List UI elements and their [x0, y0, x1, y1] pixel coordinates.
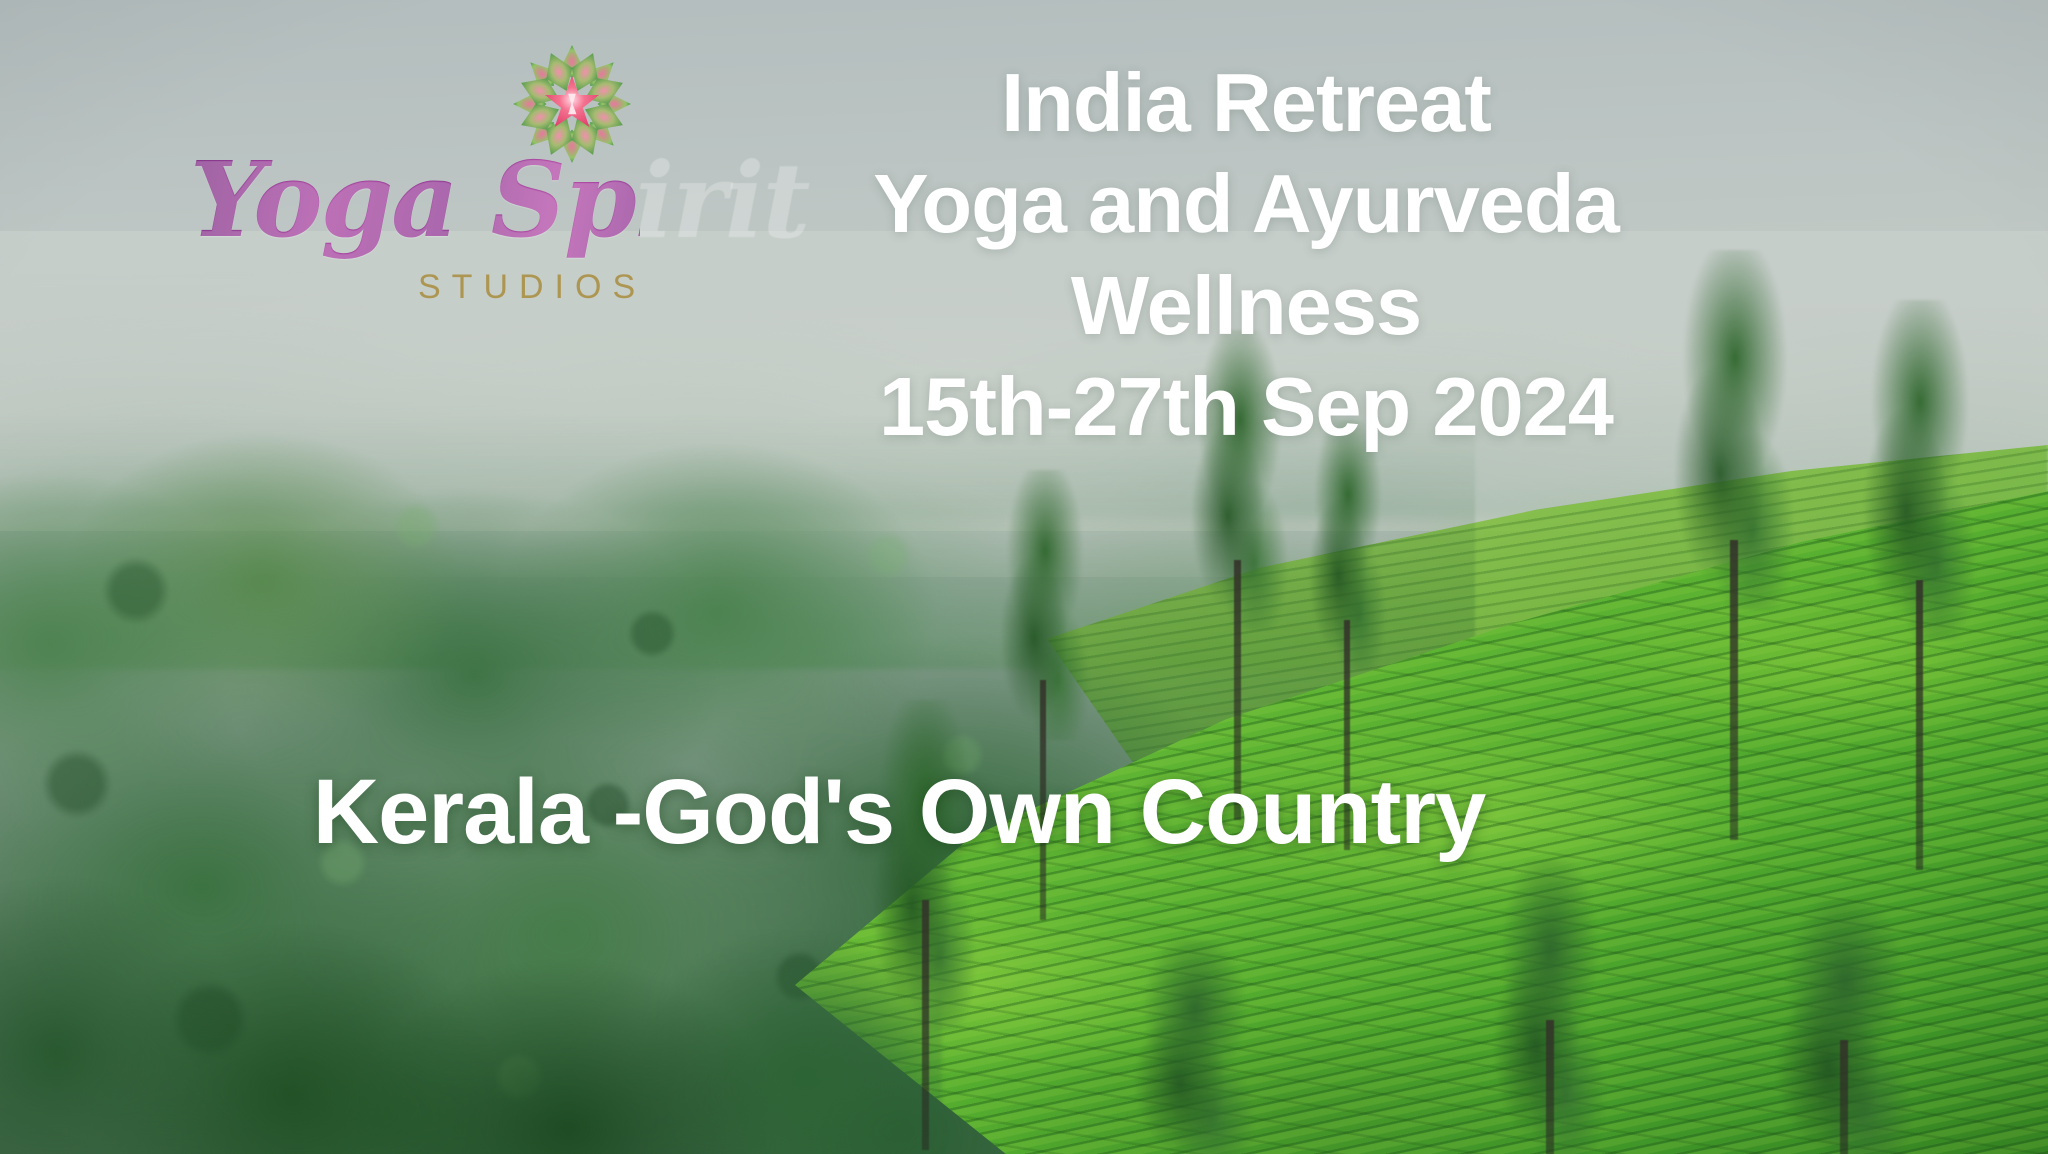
tree-icon	[1120, 940, 1270, 1154]
logo-subtext: STUDIOS	[418, 268, 646, 307]
logo-wordmark: Yoga Spirit	[190, 148, 640, 288]
headline-line-3: Wellness	[656, 255, 1836, 356]
headline-line-2: Yoga and Ayurveda	[656, 153, 1836, 254]
tagline-block: Kerala -God's Own Country	[0, 760, 2048, 865]
tree-trunk	[1546, 1020, 1554, 1154]
tree-trunk	[922, 900, 929, 1150]
tagline-text: Kerala -God's Own Country	[313, 760, 1736, 865]
headline-line-4: 15th-27th Sep 2024	[656, 356, 1836, 457]
headline-line-1: India Retreat	[656, 52, 1836, 153]
promo-banner: Yoga Spirit STUDIOS India Retreat Yoga a…	[0, 0, 2048, 1154]
tree-trunk	[1840, 1040, 1848, 1154]
headline-block: India Retreat Yoga and Ayurveda Wellness…	[656, 52, 1836, 457]
yoga-spirit-studios-logo[interactable]: Yoga Spirit STUDIOS	[190, 40, 640, 320]
